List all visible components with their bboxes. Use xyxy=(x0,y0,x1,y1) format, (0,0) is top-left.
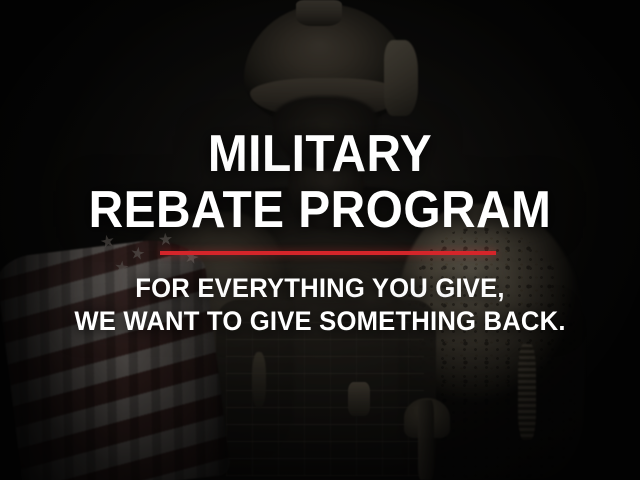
page-subtitle: FOR EVERYTHING YOU GIVE, WE WANT TO GIVE… xyxy=(16,272,624,338)
red-divider xyxy=(160,251,496,255)
headline-line-1: MILITARY xyxy=(208,125,432,183)
page-title: MILITARY REBATE PROGRAM xyxy=(26,126,615,238)
text-overlay: MILITARY REBATE PROGRAM FOR EVERYTHING Y… xyxy=(0,0,640,480)
subhead-line-1: FOR EVERYTHING YOU GIVE, xyxy=(135,273,504,303)
headline-line-2: REBATE PROGRAM xyxy=(26,182,615,238)
military-rebate-poster: ★ ★ ★ ★ ★ MILITARY REBATE PROGRAM FOR EV… xyxy=(0,0,640,480)
subhead-line-2: WE WANT TO GIVE SOMETHING BACK. xyxy=(16,305,624,338)
